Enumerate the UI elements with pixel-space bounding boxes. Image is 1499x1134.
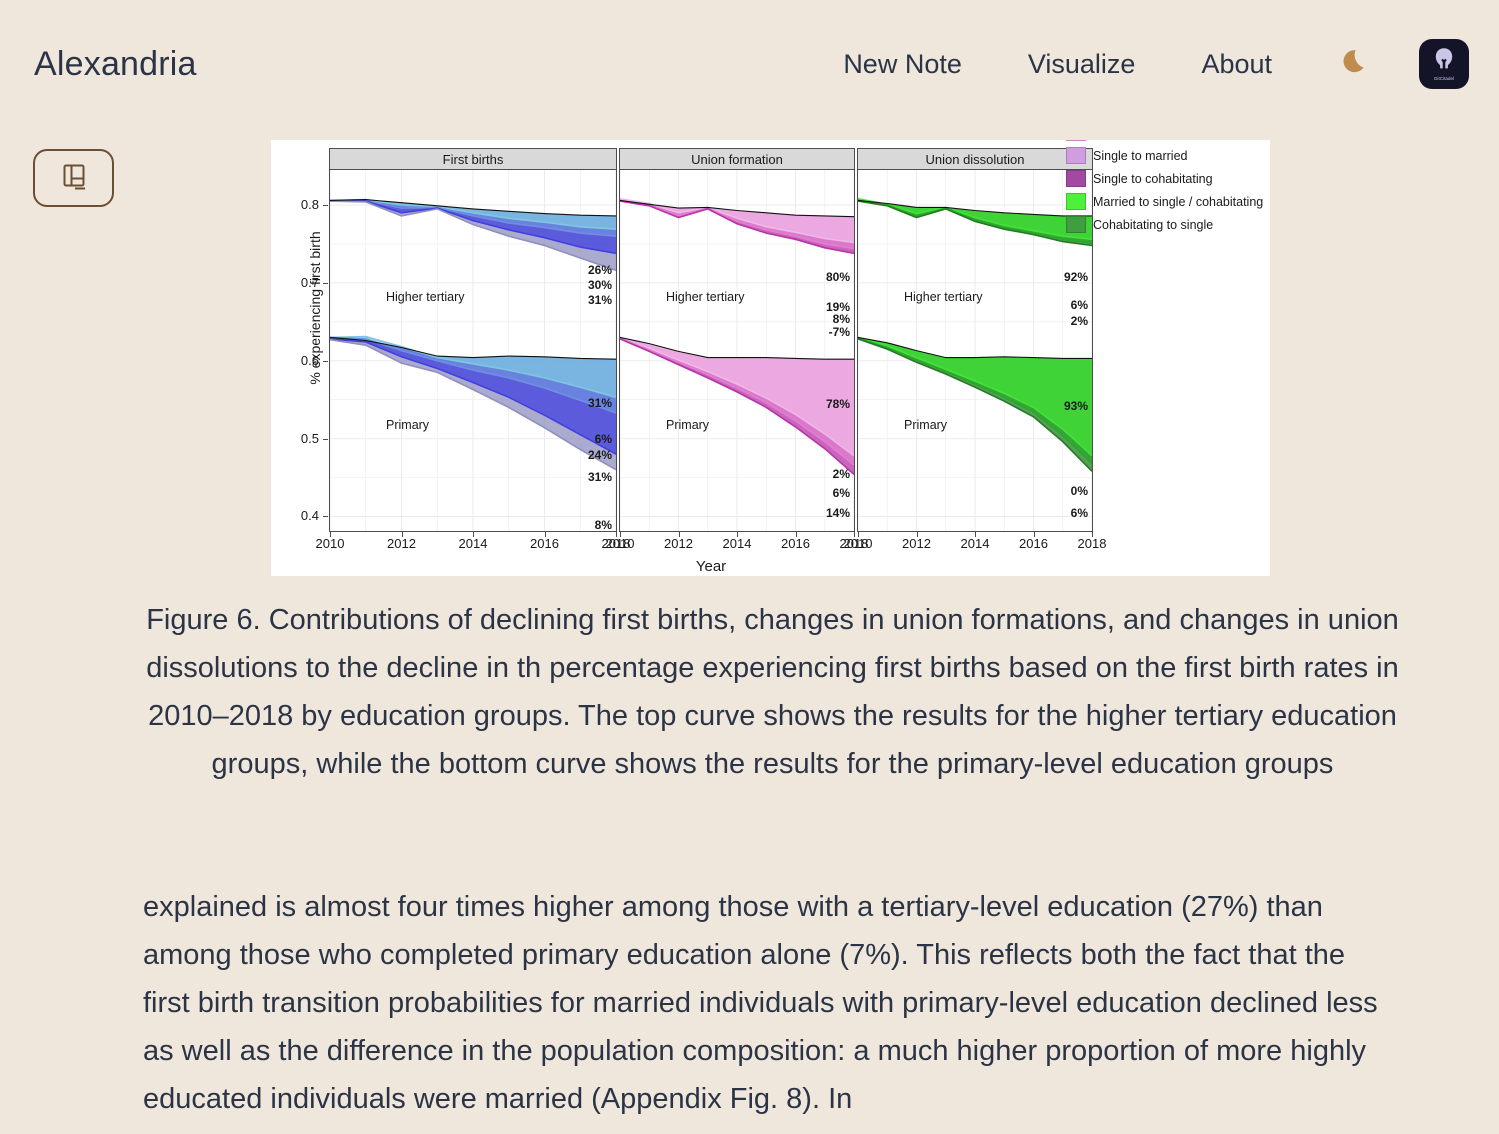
series-group-label: Primary xyxy=(666,418,709,432)
x-axis-tick-label: 2016 xyxy=(1011,536,1057,551)
body-paragraph: explained is almost four times higher am… xyxy=(143,883,1393,1123)
theme-toggle-button[interactable] xyxy=(1335,44,1375,84)
brand-title[interactable]: Alexandria xyxy=(34,47,197,81)
contribution-annotation: 8% xyxy=(595,518,612,532)
y-axis-tick-label: 0.4 xyxy=(279,508,319,523)
legend-swatch xyxy=(1066,147,1086,164)
x-axis-title: Year xyxy=(329,558,1093,575)
y-axis-tick-mark xyxy=(323,361,328,362)
contribution-annotation: 8% xyxy=(833,312,850,326)
x-axis-tick-label: 2012 xyxy=(894,536,940,551)
y-axis-tick-label: 0.8 xyxy=(279,197,319,212)
y-axis-tick-mark xyxy=(323,439,328,440)
contribution-annotation: 30% xyxy=(588,278,612,292)
facet-union-dissolution: Union dissolution Higher tertiaryPrimary… xyxy=(857,148,1093,532)
series-group-label: Higher tertiary xyxy=(386,290,465,304)
x-axis-tick-mark xyxy=(679,532,680,537)
x-axis-tick-mark xyxy=(917,532,918,537)
contribution-annotation: -7% xyxy=(829,325,850,339)
series-group-label: Primary xyxy=(386,418,429,432)
facet-panel: Higher tertiaryPrimary26%30%31%31%6%24%3… xyxy=(329,170,617,532)
x-axis-tick-mark xyxy=(796,532,797,537)
main-nav: New Note Visualize About GitCitadel xyxy=(810,39,1469,89)
legend-label: Married to single / cohabitating xyxy=(1093,195,1263,209)
x-axis-tick-label: 2014 xyxy=(714,536,760,551)
x-axis-tick-label: 2014 xyxy=(450,536,496,551)
y-axis-tick-mark xyxy=(323,205,328,206)
moon-icon xyxy=(1338,46,1372,83)
figure-caption: Figure 6. Contributions of declining fir… xyxy=(130,596,1415,788)
legend-item: Single to married xyxy=(1066,144,1266,167)
legend-item: Single to cohabitating xyxy=(1066,167,1266,190)
x-axis-tick-mark xyxy=(858,532,859,537)
x-axis-tick-label: 2010 xyxy=(597,536,643,551)
legend-label: Single to cohabitating xyxy=(1093,172,1213,186)
y-axis-tick-mark xyxy=(323,283,328,284)
legend-label: Cohabitating to single xyxy=(1093,218,1213,232)
site-header: Alexandria New Note Visualize About GitC… xyxy=(0,0,1499,128)
x-axis-tick-mark xyxy=(737,532,738,537)
facet-chart-svg xyxy=(620,170,854,531)
book-icon xyxy=(61,163,87,194)
x-axis-tick-mark xyxy=(473,532,474,537)
series-group-label: Higher tertiary xyxy=(904,290,983,304)
contribution-annotation: 2% xyxy=(1071,314,1088,328)
facet-panel: Higher tertiaryPrimary92%6%2%93%0%6% xyxy=(857,170,1093,532)
facet-strip-label: First births xyxy=(329,148,617,170)
y-axis-title: % experiencing first birth xyxy=(307,198,323,418)
y-axis-tick-label: 0.5 xyxy=(279,431,319,446)
contribution-annotation: 0% xyxy=(1071,484,1088,498)
legend-item: Married to single / cohabitating xyxy=(1066,190,1266,213)
facet-panel: Higher tertiaryPrimary80%19%8%-7%78%2%6%… xyxy=(619,170,855,532)
contribution-annotation: 6% xyxy=(833,486,850,500)
facet-union-formation: Union formation Higher tertiaryPrimary80… xyxy=(619,148,855,532)
contribution-annotation: 31% xyxy=(588,396,612,410)
helmet-icon xyxy=(1432,46,1456,76)
facet-chart-svg xyxy=(330,170,616,531)
x-axis-tick-label: 2018 xyxy=(1069,536,1115,551)
x-axis-tick-label: 2014 xyxy=(952,536,998,551)
nav-about[interactable]: About xyxy=(1168,49,1305,80)
contribution-annotation: 31% xyxy=(588,470,612,484)
legend-swatch xyxy=(1066,216,1086,233)
contribution-annotation: 6% xyxy=(1071,506,1088,520)
legend-swatch xyxy=(1066,193,1086,210)
contribution-annotation: 93% xyxy=(1064,399,1088,413)
series-group-label: Higher tertiary xyxy=(666,290,745,304)
gitcitadel-badge[interactable]: GitCitadel xyxy=(1419,39,1469,89)
x-axis-tick-label: 2012 xyxy=(379,536,425,551)
gitcitadel-badge-label: GitCitadel xyxy=(1434,77,1454,81)
contribution-annotation: 2% xyxy=(833,467,850,481)
legend-swatch xyxy=(1066,140,1086,141)
figure-image: % experiencing first birth 0.40.50.60.70… xyxy=(271,140,1270,576)
x-axis-tick-mark xyxy=(620,532,621,537)
x-axis-tick-mark xyxy=(1092,532,1093,537)
sidebar-toggle-button[interactable] xyxy=(33,149,114,207)
contribution-annotation: 78% xyxy=(826,397,850,411)
legend-item: Cohabitating to single xyxy=(1066,213,1266,236)
contribution-annotation: 6% xyxy=(1071,298,1088,312)
facet-strip-label: Union formation xyxy=(619,148,855,170)
x-axis-tick-mark xyxy=(975,532,976,537)
contribution-annotation: 92% xyxy=(1064,270,1088,284)
x-axis-tick-mark xyxy=(545,532,546,537)
chart-plot-area: % experiencing first birth 0.40.50.60.70… xyxy=(271,140,1270,576)
x-axis-tick-label: 2016 xyxy=(522,536,568,551)
contribution-annotation: 14% xyxy=(826,506,850,520)
nav-new-note[interactable]: New Note xyxy=(810,49,995,80)
contribution-annotation: 6% xyxy=(595,432,612,446)
facet-first-births: First births Higher tertiaryPrimary26%30… xyxy=(329,148,617,532)
y-axis-tick-mark xyxy=(323,516,328,517)
nav-visualize[interactable]: Visualize xyxy=(995,49,1169,80)
x-axis-tick-label: 2010 xyxy=(835,536,881,551)
contribution-annotation: 24% xyxy=(588,448,612,462)
series-group-label: Primary xyxy=(904,418,947,432)
legend-swatch xyxy=(1066,170,1086,187)
legend-label: Single to married xyxy=(1093,149,1188,163)
x-axis-tick-label: 2012 xyxy=(656,536,702,551)
x-axis-tick-mark xyxy=(1034,532,1035,537)
contribution-annotation: 31% xyxy=(588,293,612,307)
y-axis-tick-label: 0.7 xyxy=(279,275,319,290)
x-axis-tick-mark xyxy=(402,532,403,537)
y-axis-tick-label: 0.6 xyxy=(279,353,319,368)
x-axis-tick-mark xyxy=(330,532,331,537)
x-axis-tick-label: 2016 xyxy=(773,536,819,551)
x-axis-tick-label: 2010 xyxy=(307,536,353,551)
contribution-annotation: 26% xyxy=(588,263,612,277)
facet-chart-svg xyxy=(858,170,1092,531)
contribution-annotation: 80% xyxy=(826,270,850,284)
facet-strip-label: Union dissolution xyxy=(857,148,1093,170)
chart-legend: Cohabitating to marriedSingle to married… xyxy=(1066,140,1266,236)
